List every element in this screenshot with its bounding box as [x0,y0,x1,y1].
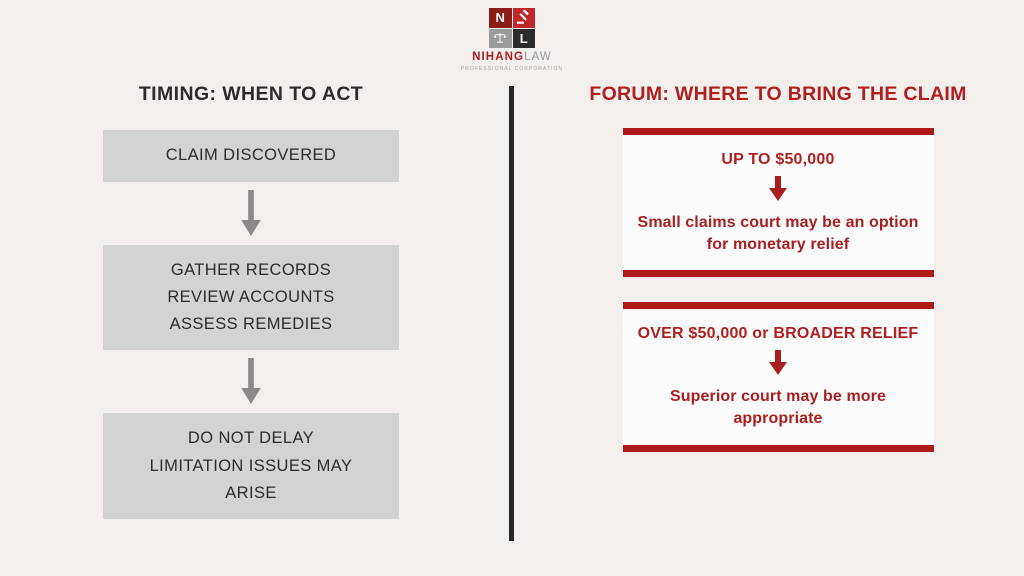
card-description: Superior court may be more appropriate [637,386,920,431]
arrow-down-icon [767,176,789,202]
logo-cell-n: N [489,8,512,28]
arrow-down-icon [239,358,263,406]
timing-step-list: CLAIM DISCOVERED GATHER RECORDS REVIEW A… [103,130,399,519]
logo-letter-l: L [520,32,528,45]
forum-column: FORUM: WHERE TO BRING THE CLAIM UP TO $5… [565,84,991,452]
arrow-down-icon [767,350,789,376]
timing-step-line: ARISE [225,480,277,507]
card-description: Small claims court may be an option for … [637,212,920,257]
logo-wordmark-primary: NIHANG [472,51,524,63]
timing-step-line: REVIEW ACCOUNTS [167,284,334,311]
logo-cell-l: L [513,29,536,49]
logo-mark: N L [489,8,535,48]
forum-card: OVER $50,000 or BROADER RELIEF Superior … [623,302,934,451]
logo-cell-scales [489,29,512,49]
logo-cell-gavel [513,8,536,28]
card-body: OVER $50,000 or BROADER RELIEF Superior … [623,309,934,444]
card-bottom-bar [623,270,934,277]
logo-letter-n: N [496,11,505,24]
card-top-bar [623,128,934,135]
arrow-down-icon [239,190,263,238]
gavel-icon [516,10,531,25]
card-heading: OVER $50,000 or BROADER RELIEF [638,323,919,344]
forum-column-title: FORUM: WHERE TO BRING THE CLAIM [565,84,991,105]
timing-step: CLAIM DISCOVERED [103,130,399,181]
vertical-divider [509,86,514,541]
scales-icon [493,31,507,45]
timing-step-line: ASSESS REMEDIES [170,311,333,338]
timing-column-title: TIMING: WHEN TO ACT [103,84,399,105]
logo-wordmark: NIHANGLAW [472,52,552,64]
card-top-bar [623,302,934,309]
card-body: UP TO $50,000 Small claims court may be … [623,135,934,270]
logo-wordmark-secondary: LAW [524,51,552,63]
logo-tagline: PROFESSIONAL CORPORATION [461,66,563,72]
forum-card: UP TO $50,000 Small claims court may be … [623,128,934,277]
timing-step: DO NOT DELAY LIMITATION ISSUES MAY ARISE [103,413,399,519]
card-heading: UP TO $50,000 [721,149,834,170]
forum-card-list: UP TO $50,000 Small claims court may be … [565,128,991,451]
brand-logo: N L [0,8,1024,72]
timing-step-line: DO NOT DELAY [188,425,314,452]
timing-column: TIMING: WHEN TO ACT CLAIM DISCOVERED GAT… [103,84,399,519]
timing-step-line: LIMITATION ISSUES MAY [150,453,353,480]
card-bottom-bar [623,445,934,452]
timing-step: GATHER RECORDS REVIEW ACCOUNTS ASSESS RE… [103,245,399,351]
timing-step-line: CLAIM DISCOVERED [166,142,337,169]
timing-step-line: GATHER RECORDS [171,257,331,284]
